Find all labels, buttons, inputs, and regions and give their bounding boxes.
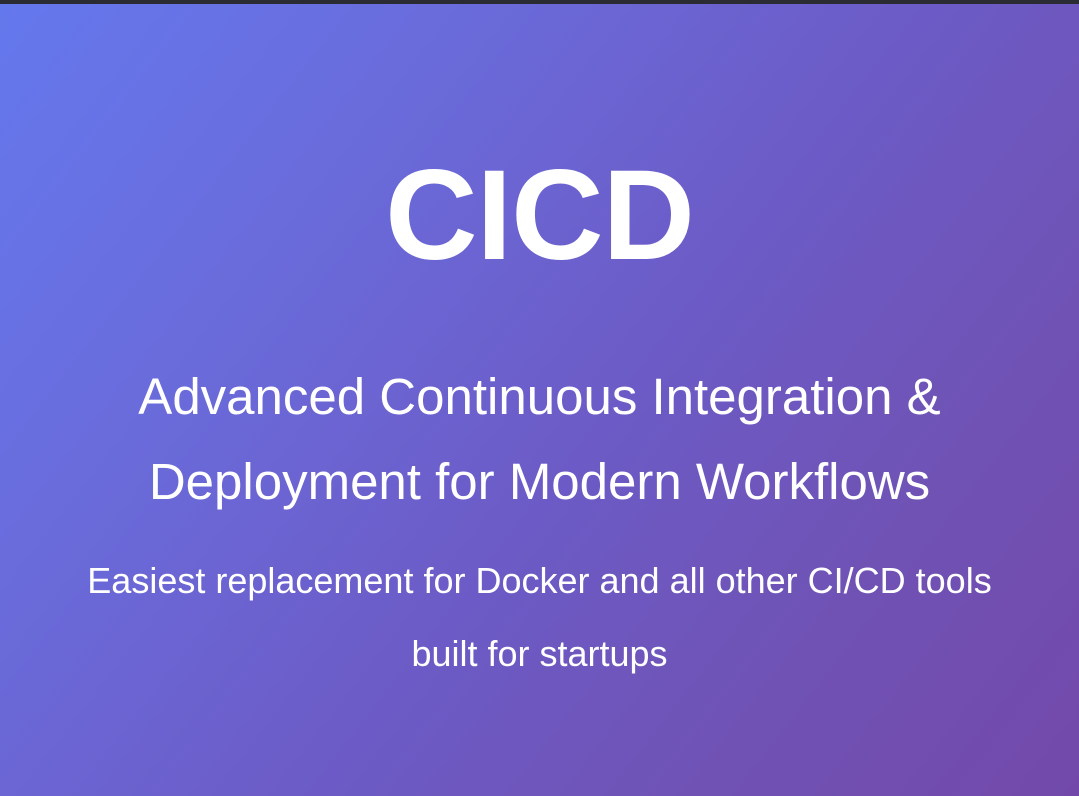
hero-subtitle: Advanced Continuous Integration & Deploy…: [50, 280, 1030, 524]
screenshot-root: CICD Advanced Continuous Integration & D…: [0, 0, 1079, 796]
hero-banner: CICD Advanced Continuous Integration & D…: [0, 4, 1079, 796]
page-title: CICD: [0, 4, 1079, 280]
hero-tagline: Easiest replacement for Docker and all o…: [50, 524, 1030, 690]
hero-content: CICD Advanced Continuous Integration & D…: [0, 4, 1079, 690]
